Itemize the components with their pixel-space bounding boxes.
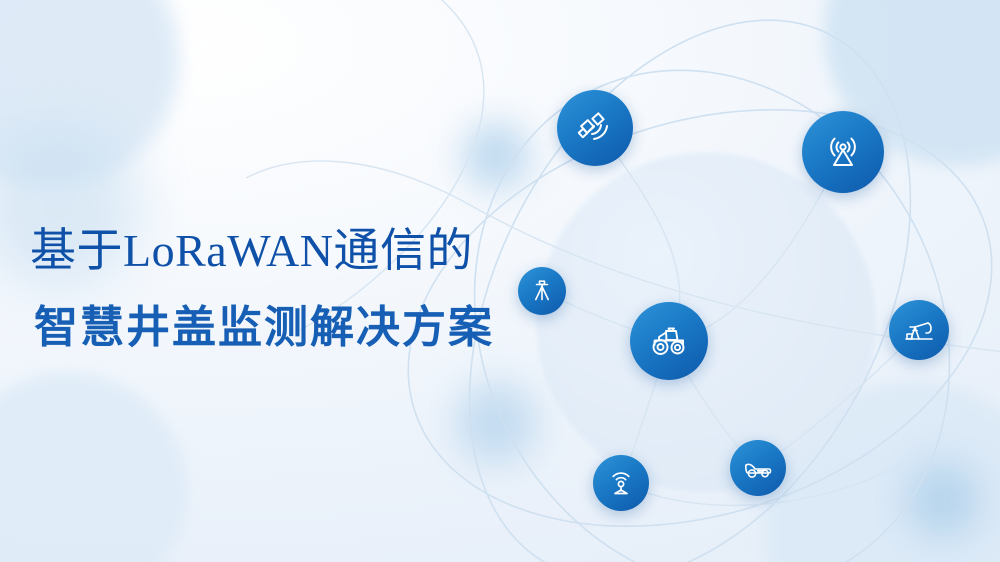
node-survey-tripod[interactable] (518, 267, 566, 315)
satellite-signal-icon (575, 108, 615, 148)
robot-mower-icon (742, 452, 774, 484)
node-gps-beacon[interactable] (593, 455, 649, 511)
node-radio-tower[interactable] (802, 111, 884, 193)
title-line-2: 智慧井盖监测解决方案 (34, 306, 494, 350)
blob-dot-lower (455, 382, 537, 464)
slide-canvas: 基于LoRaWAN通信的 智慧井盖监测解决方案 (0, 0, 1000, 562)
blob-dot-upper (462, 122, 530, 190)
tractor-icon (647, 319, 691, 363)
node-satellite[interactable] (557, 90, 633, 166)
gps-beacon-icon (605, 467, 637, 499)
blob-top-left (0, 0, 180, 188)
blob-left-low (0, 372, 188, 562)
survey-tripod-icon (529, 278, 555, 304)
page-title: 基于LoRaWAN通信的 智慧井盖监测解决方案 (30, 228, 494, 350)
title-line-1: 基于LoRaWAN通信的 (30, 228, 494, 274)
node-oil-pump[interactable] (889, 300, 949, 360)
blob-dot-right (905, 462, 981, 538)
blob-bottom-right (764, 382, 1000, 562)
network-sphere (536, 152, 876, 492)
radio-tower-icon (821, 130, 865, 174)
node-tractor[interactable] (630, 302, 708, 380)
node-robot-mower[interactable] (730, 440, 786, 496)
oil-pump-jack-icon (902, 313, 936, 347)
